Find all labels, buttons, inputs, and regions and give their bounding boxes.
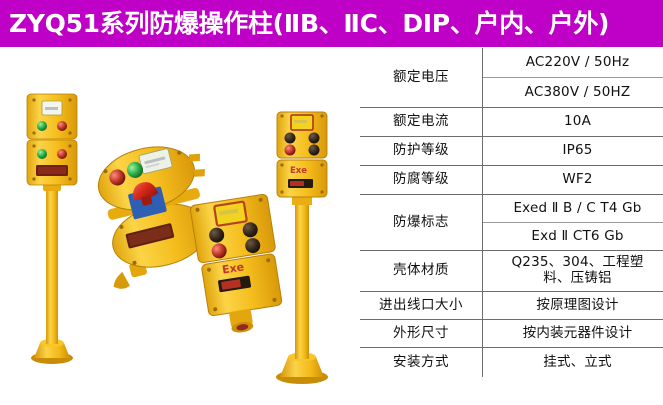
product-spec-page: ZYQ51系列防爆操作柱(ⅡB、ⅡC、DIP、户内、户外) bbox=[0, 0, 663, 405]
table-row: 额定电压 AC220V / 50Hz bbox=[360, 48, 663, 78]
product-floor-column-left bbox=[27, 94, 77, 364]
product-photo-group: Exe bbox=[0, 47, 360, 405]
table-row: 安装方式 挂式、立式 bbox=[360, 348, 663, 378]
spec-value-dimensions: 按内装元器件设计 bbox=[483, 320, 663, 348]
shell-material-line-1: Q235、304、工程塑 bbox=[485, 255, 663, 271]
spec-label-rated-voltage: 额定电压 bbox=[360, 48, 483, 108]
spec-value-shell-material: Q235、304、工程塑 料、压铸铝 bbox=[483, 251, 663, 292]
spec-value-ex-marking-2: Exd Ⅱ CT6 Gb bbox=[483, 223, 663, 251]
spec-label-ex-marking: 防爆标志 bbox=[360, 195, 483, 251]
page-banner: ZYQ51系列防爆操作柱(ⅡB、ⅡC、DIP、户内、户外) bbox=[0, 0, 663, 47]
shell-material-line-2: 料、压铸铝 bbox=[485, 271, 663, 287]
table-row: 防护等级 IP65 bbox=[360, 137, 663, 166]
spec-label-corrosion-grade: 防腐等级 bbox=[360, 166, 483, 195]
spec-label-protection-grade: 防护等级 bbox=[360, 137, 483, 166]
product-illustrations: Exe bbox=[0, 47, 360, 405]
spec-value-voltage-380: AC380V / 50HZ bbox=[483, 78, 663, 108]
product-floor-column-right: Exe bbox=[276, 112, 328, 384]
spec-label-cable-entry: 进出线口大小 bbox=[360, 292, 483, 320]
spec-label-dimensions: 外形尺寸 bbox=[360, 320, 483, 348]
spec-value-cable-entry: 按原理图设计 bbox=[483, 292, 663, 320]
specification-table: 额定电压 AC220V / 50Hz AC380V / 50HZ 额定电流 10… bbox=[360, 48, 663, 377]
spec-label-rated-current: 额定电流 bbox=[360, 108, 483, 137]
spec-value-rated-current: 10A bbox=[483, 108, 663, 137]
page-title: ZYQ51系列防爆操作柱(ⅡB、ⅡC、DIP、户内、户外) bbox=[9, 11, 609, 36]
spec-value-protection-grade: IP65 bbox=[483, 137, 663, 166]
table-row: 进出线口大小 按原理图设计 bbox=[360, 292, 663, 320]
spec-label-mounting: 安装方式 bbox=[360, 348, 483, 378]
spec-label-shell-material: 壳体材质 bbox=[360, 251, 483, 292]
table-row: 壳体材质 Q235、304、工程塑 料、压铸铝 bbox=[360, 251, 663, 292]
table-row: 防腐等级 WF2 bbox=[360, 166, 663, 195]
table-row: 防爆标志 Exed Ⅱ B / C T4 Gb bbox=[360, 195, 663, 223]
table-row: 外形尺寸 按内装元器件设计 bbox=[360, 320, 663, 348]
table-row: 额定电流 10A bbox=[360, 108, 663, 137]
spec-value-voltage-220: AC220V / 50Hz bbox=[483, 48, 663, 78]
brand-text-column: Exe bbox=[290, 166, 307, 176]
spec-value-mounting: 挂式、立式 bbox=[483, 348, 663, 378]
spec-value-ex-marking-1: Exed Ⅱ B / C T4 Gb bbox=[483, 195, 663, 223]
spec-value-corrosion-grade: WF2 bbox=[483, 166, 663, 195]
product-wall-mount-station: Exe bbox=[190, 194, 288, 338]
